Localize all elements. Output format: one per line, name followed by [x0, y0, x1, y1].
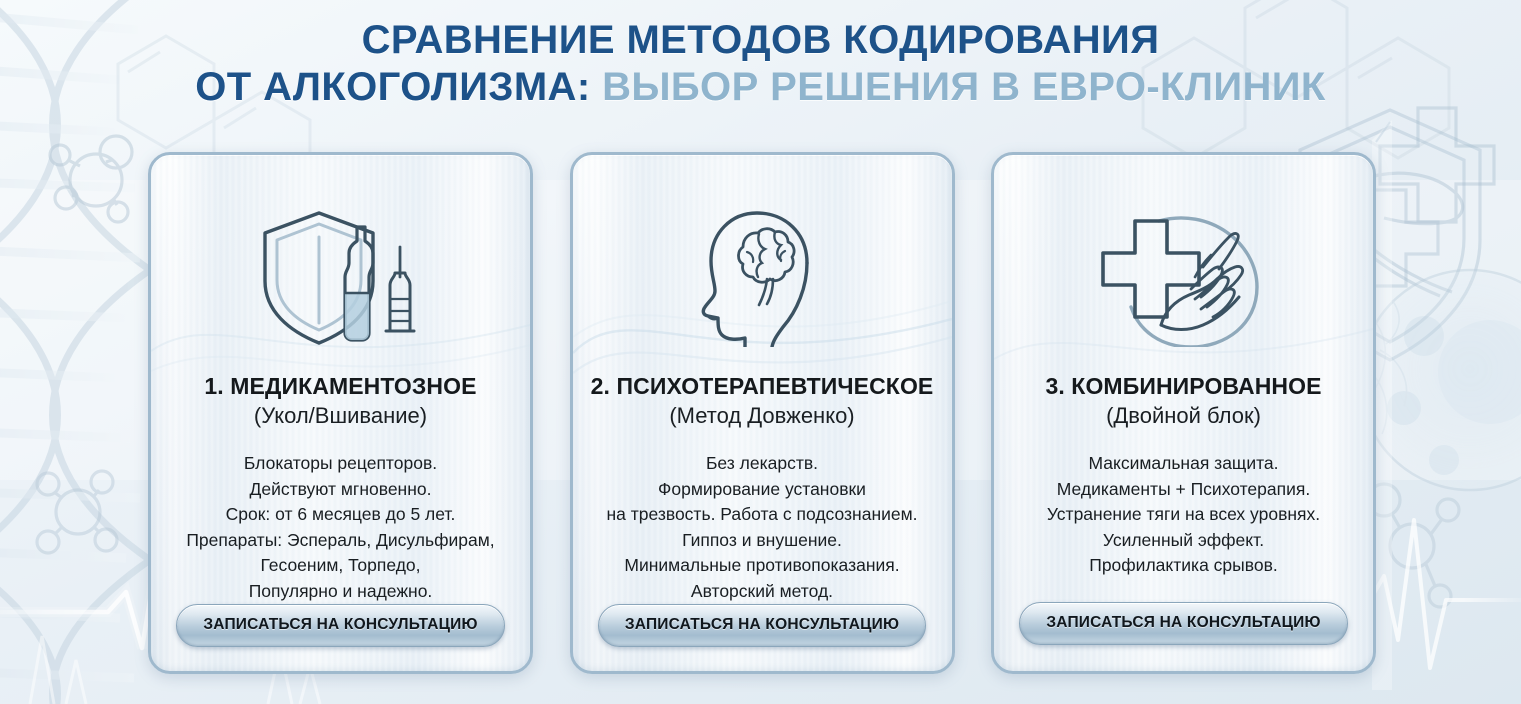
book-consultation-button[interactable]: ЗАПИСАТЬСЯ НА КОНСУЛЬТАЦИЮ — [598, 604, 926, 647]
card-line: Профилактика срывов. — [1047, 553, 1320, 579]
card-line: Препараты: Эспераль, Дисульфирам, — [186, 528, 494, 554]
card-line: Устранение тяги на всех уровнях. — [1047, 502, 1320, 528]
card-subtitle: (Метод Довженко) — [591, 403, 934, 429]
page-title-dark-part: ОТ АЛКОГОЛИЗМА: — [195, 65, 590, 109]
card-icon-container — [1099, 207, 1269, 347]
banner-header: СРАВНЕНИЕ МЕТОДОВ КОДИРОВАНИЯ ОТ АЛКОГОЛ… — [0, 18, 1521, 110]
method-cards-row: 1. МЕДИКАМЕНТОЗНОЕ (Укол/Вшивание) Блока… — [148, 152, 1376, 668]
card-heading: 1. МЕДИКАМЕНТОЗНОЕ (Укол/Вшивание) — [194, 373, 486, 429]
cross-helping-hands-icon — [1099, 207, 1269, 347]
page-title-line1: СРАВНЕНИЕ МЕТОДОВ КОДИРОВАНИЯ — [0, 18, 1521, 63]
card-line: Формирование установки — [606, 477, 917, 503]
card-icon-container — [253, 207, 429, 347]
page-title-line2: ОТ АЛКОГОЛИЗМА: ВЫБОР РЕШЕНИЯ В ЕВРО-КЛИ… — [0, 65, 1521, 110]
card-description: Максимальная защита. Медикаменты + Психо… — [1039, 451, 1328, 579]
card-line: Медикаменты + Психотерапия. — [1047, 477, 1320, 503]
card-subtitle: (Двойной блок) — [1045, 403, 1321, 429]
card-title: 2. ПСИХОТЕРАПЕВТИЧЕСКОЕ — [591, 373, 934, 400]
card-heading: 3. КОМБИНИРОВАННОЕ (Двойной блок) — [1035, 373, 1331, 429]
card-title: 3. КОМБИНИРОВАННОЕ — [1045, 373, 1321, 400]
method-card-medicamentous[interactable]: 1. МЕДИКАМЕНТОЗНОЕ (Укол/Вшивание) Блока… — [148, 152, 533, 674]
card-line: Блокаторы рецепторов. — [186, 451, 494, 477]
card-line: Действуют мгновенно. — [186, 477, 494, 503]
card-line: Авторский метод. — [606, 579, 917, 605]
card-line: Популярно и надежно. — [186, 579, 494, 605]
card-line: Максимальная защита. — [1047, 451, 1320, 477]
shield-ampoule-syringe-icon — [253, 207, 429, 347]
card-cta-container: ЗАПИСАТЬСЯ НА КОНСУЛЬТАЦИЮ — [176, 604, 504, 647]
card-line: Гиппоз и внушение. — [606, 528, 917, 554]
card-line: Гесоеним, Торпедо, — [186, 553, 494, 579]
card-subtitle: (Укол/Вшивание) — [204, 403, 476, 429]
card-title: 1. МЕДИКАМЕНТОЗНОЕ — [204, 373, 476, 400]
card-description: Блокаторы рецепторов. Действуют мгновенн… — [178, 451, 502, 604]
card-line: Усиленный эффект. — [1047, 528, 1320, 554]
book-consultation-button[interactable]: ЗАПИСАТЬСЯ НА КОНСУЛЬТАЦИЮ — [1019, 602, 1347, 645]
card-line: Без лекарств. — [606, 451, 917, 477]
book-consultation-button[interactable]: ЗАПИСАТЬСЯ НА КОНСУЛЬТАЦИЮ — [176, 604, 504, 647]
card-line: Минимальные противопоказания. — [606, 553, 917, 579]
method-card-combined[interactable]: 3. КОМБИНИРОВАННОЕ (Двойной блок) Максим… — [991, 152, 1376, 674]
card-cta-container: ЗАПИСАТЬСЯ НА КОНСУЛЬТАЦИЮ — [1019, 602, 1347, 645]
head-brain-icon — [687, 207, 837, 347]
card-icon-container — [687, 207, 837, 347]
card-cta-container: ЗАПИСАТЬСЯ НА КОНСУЛЬТАЦИЮ — [598, 604, 926, 647]
page-title-light-part: ВЫБОР РЕШЕНИЯ В ЕВРО-КЛИНИК — [602, 65, 1326, 109]
card-description: Без лекарств. Формирование установки на … — [598, 451, 925, 604]
card-line: Срок: от 6 месяцев до 5 лет. — [186, 502, 494, 528]
infographic-banner: СРАВНЕНИЕ МЕТОДОВ КОДИРОВАНИЯ ОТ АЛКОГОЛ… — [0, 0, 1521, 704]
card-heading: 2. ПСИХОТЕРАПЕВТИЧЕСКОЕ (Метод Довженко) — [581, 373, 944, 429]
card-line: на трезвость. Работа с подсознанием. — [606, 502, 917, 528]
method-card-psychotherapeutic[interactable]: 2. ПСИХОТЕРАПЕВТИЧЕСКОЕ (Метод Довженко)… — [570, 152, 955, 674]
